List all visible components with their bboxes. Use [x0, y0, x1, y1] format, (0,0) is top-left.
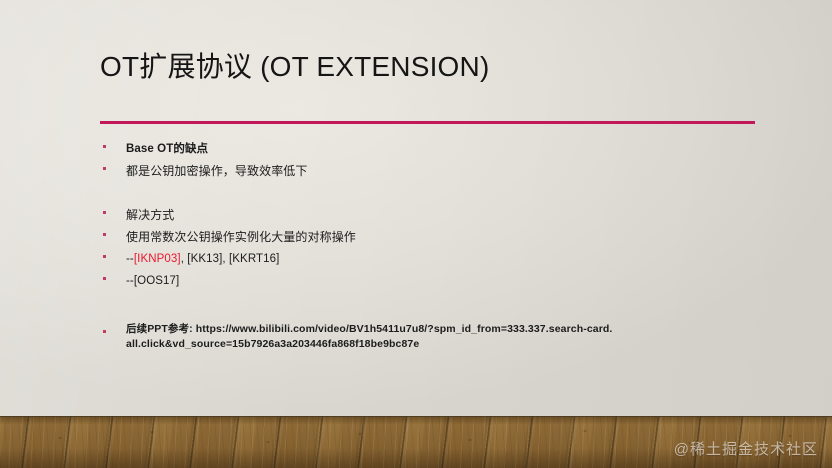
- bullet-item-pubkey-inefficient: 都是公钥加密操作，导致效率低下: [100, 160, 780, 182]
- reference-line: 后续PPT参考: https://www.bilibili.com/video/…: [126, 322, 616, 352]
- slide-canvas: OT扩展协议 (OT EXTENSION) Base OT的缺点 都是公钥加密操…: [0, 0, 832, 468]
- reference-url[interactable]: https://www.bilibili.com/video/BV1h5411u…: [126, 323, 612, 350]
- title-divider: [100, 121, 755, 124]
- slide-body: Base OT的缺点 都是公钥加密操作，导致效率低下 解决方式 使用常数次公钥操…: [100, 138, 780, 352]
- bullet-marker-icon: [103, 145, 106, 148]
- citation-prefix: --: [126, 253, 134, 265]
- bullet-spacer: [100, 292, 780, 322]
- bullet-text: 解决方式: [126, 204, 780, 226]
- bullet-text: Base OT的缺点: [126, 138, 780, 160]
- bullet-marker-icon: [103, 233, 106, 236]
- citation-highlighted: [IKNP03]: [134, 253, 181, 265]
- reference-link-item: 后续PPT参考: https://www.bilibili.com/video/…: [100, 322, 780, 352]
- bullet-item-solution-detail: 使用常数次公钥操作实例化大量的对称操作: [100, 226, 780, 248]
- bullet-marker-icon: [103, 211, 106, 214]
- bullet-item-citations-secondary: --[OOS17]: [100, 270, 780, 292]
- bullet-text: 使用常数次公钥操作实例化大量的对称操作: [126, 226, 780, 248]
- bullet-item-base-ot-drawback: Base OT的缺点: [100, 138, 780, 160]
- watermark: @稀土掘金技术社区: [674, 440, 818, 460]
- reference-label: 后续PPT参考:: [126, 323, 193, 335]
- wood-floor-edge: [0, 416, 832, 417]
- bullet-marker-icon: [103, 255, 106, 258]
- bullet-marker-icon: [103, 167, 106, 170]
- bullet-item-citations-primary: --[IKNP03], [KK13], [KKRT16]: [100, 248, 780, 270]
- bullet-text: --[OOS17]: [126, 270, 780, 292]
- slide-title: OT扩展协议 (OT EXTENSION): [100, 48, 489, 86]
- bullet-item-solution-heading: 解决方式: [100, 204, 780, 226]
- bullet-marker-icon: [103, 330, 106, 333]
- bullet-marker-icon: [103, 277, 106, 280]
- bullet-spacer: [100, 182, 780, 204]
- citation-line: --[IKNP03], [KK13], [KKRT16]: [126, 248, 780, 270]
- citation-rest: , [KK13], [KKRT16]: [181, 253, 280, 265]
- bullet-text: 都是公钥加密操作，导致效率低下: [126, 160, 780, 182]
